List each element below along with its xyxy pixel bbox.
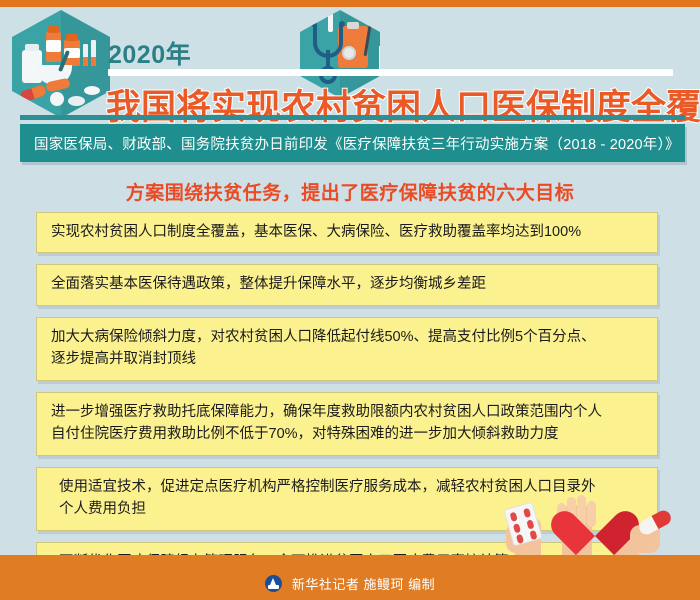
ampoule-1-fill — [83, 57, 88, 66]
blister-pill — [526, 519, 534, 529]
goal-item: 全面落实基本医保待遇政策，整体提升保障水平，逐步均衡城乡差距 — [36, 264, 658, 305]
title-underline — [20, 115, 685, 120]
goal-item: 实现农村贫困人口制度全覆盖，基本医保、大病保险、医疗救助覆盖率均达到100% — [36, 212, 658, 253]
goal-line: 实现农村贫困人口制度全覆盖，基本医保、大病保险、医疗救助覆盖率均达到100% — [51, 221, 645, 243]
white-tablet-2-icon — [68, 96, 85, 106]
orange-floor — [0, 555, 700, 567]
round-disc-icon — [342, 46, 356, 60]
ampoule-2-fill — [91, 57, 96, 66]
white-bottle-cap — [25, 44, 39, 51]
xinhua-logo-icon — [265, 575, 282, 592]
orange-bottle-1-cap — [48, 26, 59, 33]
blister-pill — [529, 530, 537, 540]
white-tablet-1-icon — [50, 92, 64, 106]
top-orange-rule — [0, 0, 700, 7]
goal-item: 进一步增强医疗救助托底保障能力，确保年度救助限额内农村贫困人口政策范围内个人 自… — [36, 392, 658, 456]
subtitle-bar: 国家医保局、财政部、国务院扶贫办日前印发《医疗保障扶贫三年行动实施方案（2018… — [20, 124, 685, 162]
stethoscope-earpiece-right — [339, 21, 345, 27]
blister-pill — [513, 523, 521, 533]
heart-in-hands-icon — [568, 493, 622, 541]
goal-line: 进一步增强医疗救助托底保障能力，确保年度救助限额内农村贫困人口政策范围内个人 — [51, 401, 645, 423]
footer-bar: 新华社记者 施鳗珂 编制 — [0, 567, 700, 600]
year-label: 2020年 — [108, 35, 191, 71]
blister-pill — [523, 508, 531, 518]
header-divider — [108, 69, 673, 76]
orange-bottle-2-cap — [66, 34, 78, 41]
goal-line: 加大大病保险倾斜力度，对农村贫困人口降低起付线50%、提高支付比例5个百分点、 — [51, 326, 645, 348]
clipboard-clamp — [347, 22, 359, 29]
infographic-poster: 2020年 我国将实现农村贫困人口医保制度全覆盖 国家医保局、财政部、国务院扶贫… — [0, 0, 700, 600]
orange-bottle-1-label — [46, 40, 61, 52]
footer-credit: 新华社记者 施鳗珂 编制 — [292, 574, 435, 593]
white-tablet-3-icon — [84, 86, 100, 95]
subtitle-text: 国家医保局、财政部、国务院扶贫办日前印发《医疗保障扶贫三年行动实施方案（2018… — [20, 133, 680, 154]
blister-pill — [516, 534, 524, 544]
goal-line: 逐步提高并取消封顶线 — [51, 348, 645, 370]
blister-pill — [510, 512, 518, 522]
goal-line: 自付住院医疗费用救助比例不低于70%，对特殊困难的进一步加大倾斜救助力度 — [51, 423, 645, 445]
goal-item: 加大大病保险倾斜力度，对农村贫困人口降低起付线50%、提高支付比例5个百分点、 … — [36, 317, 658, 381]
goal-line: 全面落实基本医保待遇政策，整体提升保障水平，逐步均衡城乡差距 — [51, 273, 645, 295]
section-heading: 方案围绕扶贫任务，提出了医疗保障扶贫的六大目标 — [0, 178, 700, 205]
header-band: 2020年 我国将实现农村贫困人口医保制度全覆盖 — [0, 7, 700, 117]
page-title: 我国将实现农村贫困人口医保制度全覆盖 — [106, 79, 700, 130]
